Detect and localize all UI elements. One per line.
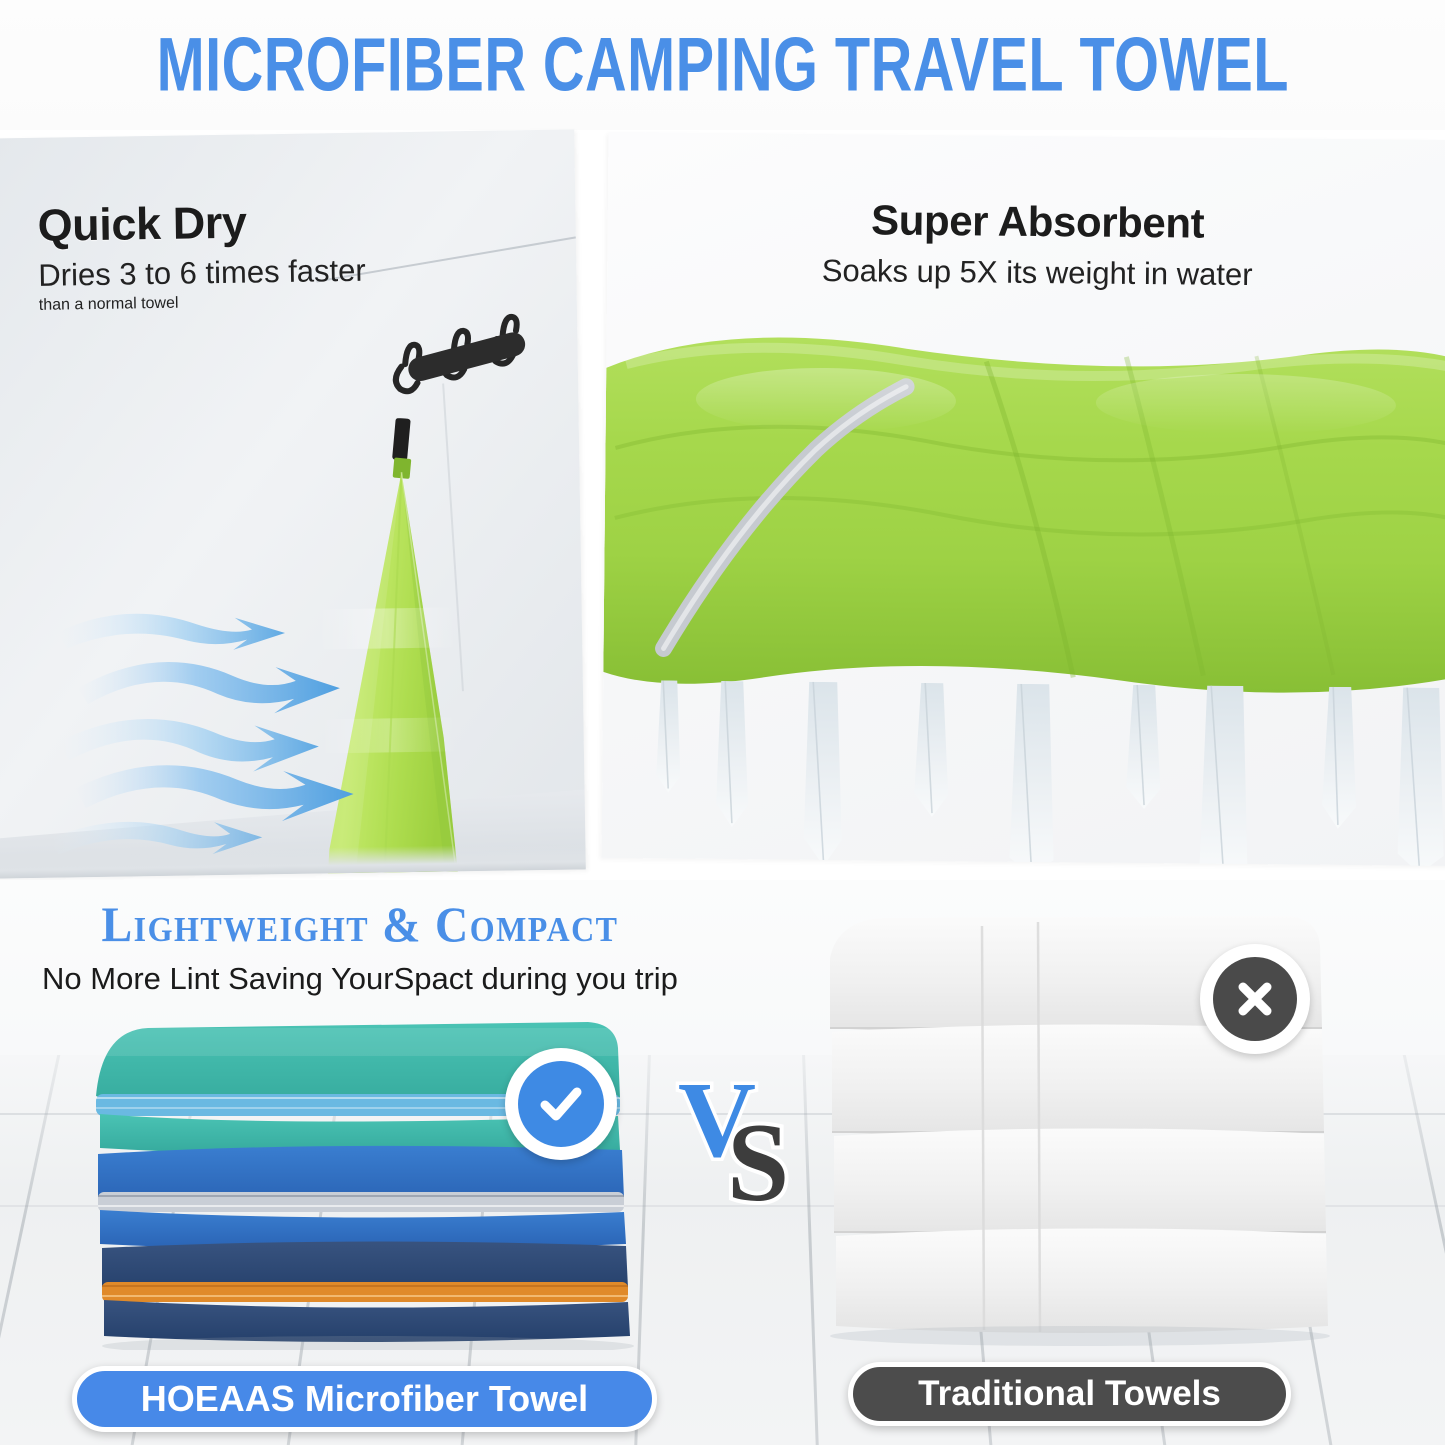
royal-towel	[98, 1146, 626, 1250]
airflow-arrows-icon	[46, 587, 390, 872]
versus-badge: V S	[672, 1060, 822, 1220]
check-icon	[535, 1078, 587, 1130]
label-pill-microfiber-text: HOEAAS Microfiber Towel	[141, 1378, 588, 1420]
x-badge-inner	[1213, 957, 1297, 1041]
quick-dry-title: Quick Dry	[37, 195, 365, 252]
lightweight-heading-group: Lightweight & Compact No More Lint Savin…	[0, 898, 720, 997]
label-pill-traditional: Traditional Towels	[848, 1362, 1291, 1426]
vs-letter-s: S	[727, 1101, 789, 1220]
lightweight-title: Lightweight & Compact	[0, 896, 720, 953]
white-towel-4	[836, 1228, 1328, 1333]
wet-twisted-towel-icon	[603, 328, 1445, 736]
quick-dry-heading-group: Quick Dry Dries 3 to 6 times faster than…	[37, 195, 366, 316]
coat-hook-rack-icon	[378, 300, 548, 414]
super-absorbent-heading-group: Super Absorbent Soaks up 5X its weight i…	[607, 194, 1445, 297]
navy-towel	[102, 1241, 630, 1342]
label-pill-microfiber: HOEAAS Microfiber Towel	[72, 1366, 657, 1432]
page-title: MICROFIBER CAMPING TRAVEL TOWEL	[156, 22, 1288, 109]
quick-dry-subtitle-line1: Dries 3 to 6 times faster	[38, 251, 366, 296]
label-pill-traditional-text: Traditional Towels	[918, 1374, 1221, 1414]
check-badge-inner	[518, 1061, 604, 1147]
water-drips-icon	[602, 680, 1445, 866]
panel-super-absorbent: Super Absorbent Soaks up 5X its weight i…	[602, 132, 1445, 866]
lightweight-subtitle: No More Lint Saving YourSpact during you…	[0, 961, 720, 997]
close-icon	[1231, 975, 1279, 1023]
super-absorbent-subtitle: Soaks up 5X its weight in water	[607, 249, 1445, 297]
white-towel-3	[834, 1128, 1326, 1239]
super-absorbent-title: Super Absorbent	[607, 194, 1445, 250]
x-badge	[1200, 944, 1310, 1054]
check-badge	[505, 1048, 617, 1160]
title-bar: MICROFIBER CAMPING TRAVEL TOWEL	[0, 0, 1445, 130]
panel-quick-dry: Quick Dry Dries 3 to 6 times faster than…	[0, 129, 586, 878]
